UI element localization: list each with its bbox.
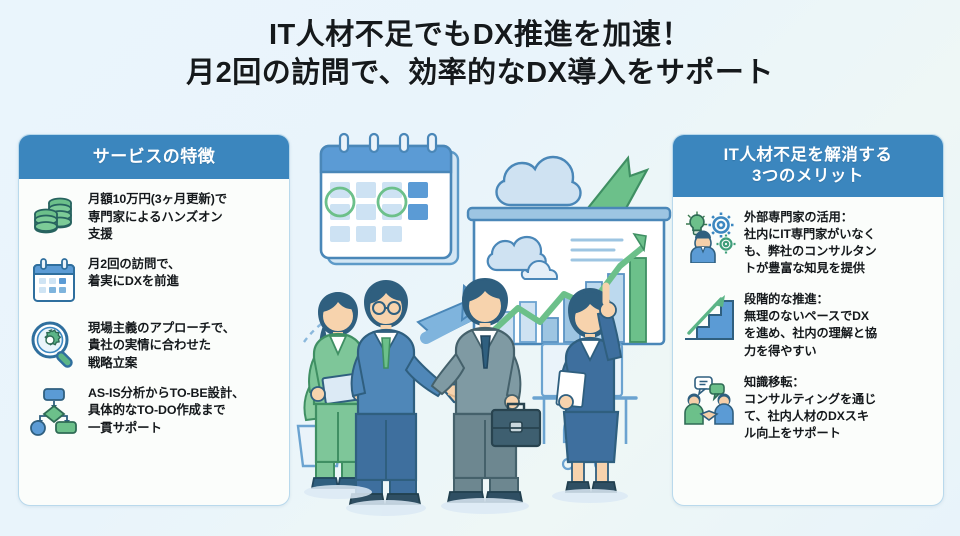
list-item-label: 外部専門家の活用： 社内にIT専門家がいなく も、弊社のコンサルタン トが豊富な… — [744, 207, 935, 277]
title-line-2: 月2回の訪問で、効率的なDX導入をサポート — [0, 54, 960, 92]
handshake-chat-icon — [681, 372, 737, 428]
list-item-label: 月2回の訪問で、 着実にDXを前進 — [88, 254, 281, 291]
list-item-label: 月額10万円(3ヶ月更新)で 専門家によるハンズオン 支援 — [88, 189, 281, 244]
right-panel-body: 外部専門家の活用： 社内にIT専門家がいなく も、弊社のコンサルタン トが豊富な… — [673, 197, 943, 462]
list-item: AS-IS分析からTO-BE設計、 具体的なTO-DO作成まで 一貫サポート — [27, 383, 281, 438]
business-consulting-illustration — [296, 126, 672, 530]
right-panel-header: IT人材不足を解消する 3つのメリット — [673, 135, 943, 197]
magnifier-gear-icon — [27, 318, 81, 372]
list-item-label: 知識移転： コンサルティングを通じ て、社内人材のDXスキ ル向上をサポート — [744, 372, 935, 442]
list-item: 月2回の訪問で、 着実にDXを前進 — [27, 254, 281, 308]
list-item-label: AS-IS分析からTO-BE設計、 具体的なTO-DO作成まで 一貫サポート — [88, 383, 281, 438]
left-panel-body: 月額10万円(3ヶ月更新)で 専門家によるハンズオン 支援 — [19, 179, 289, 455]
flowchart-icon — [27, 383, 81, 437]
list-item: 段階的な推進： 無理のないペースでDX を進め、社内の理解と協 力を得やすい — [681, 289, 935, 359]
list-item: 外部専門家の活用： 社内にIT専門家がいなく も、弊社のコンサルタン トが豊富な… — [681, 207, 935, 277]
list-item-label: 現場主義のアプローチで、 貴社の実情に合わせた 戦略立案 — [88, 318, 281, 373]
list-item: 月額10万円(3ヶ月更新)で 専門家によるハンズオン 支援 — [27, 189, 281, 244]
stairs-arrow-icon — [681, 289, 737, 345]
list-item: 現場主義のアプローチで、 貴社の実情に合わせた 戦略立案 — [27, 318, 281, 373]
calendar-icon — [27, 254, 81, 308]
calendar-illustration — [321, 134, 458, 264]
service-features-panel: サービスの特徴 月額10万円 — [18, 134, 290, 506]
list-item-label: 段階的な推進： 無理のないペースでDX を進め、社内の理解と協 力を得やすい — [744, 289, 935, 359]
lightbulb-gears-person-icon — [681, 207, 737, 263]
coins-icon — [27, 189, 81, 243]
whiteboard-with-chart — [468, 208, 670, 344]
left-panel-header: サービスの特徴 — [19, 135, 289, 179]
page-title: IT人材不足でもDX推進を加速！ 月2回の訪問で、効率的なDX導入をサポート — [0, 16, 960, 93]
title-line-1: IT人材不足でもDX推進を加速！ — [0, 16, 960, 54]
cloud-upper — [497, 157, 581, 205]
handshake-chat-icon-item: 知識移転： コンサルティングを通じ て、社内人材のDXスキ ル向上をサポート — [681, 372, 935, 442]
merits-panel: IT人材不足を解消する 3つのメリット — [672, 134, 944, 506]
person-man-blue-suit — [350, 280, 446, 504]
